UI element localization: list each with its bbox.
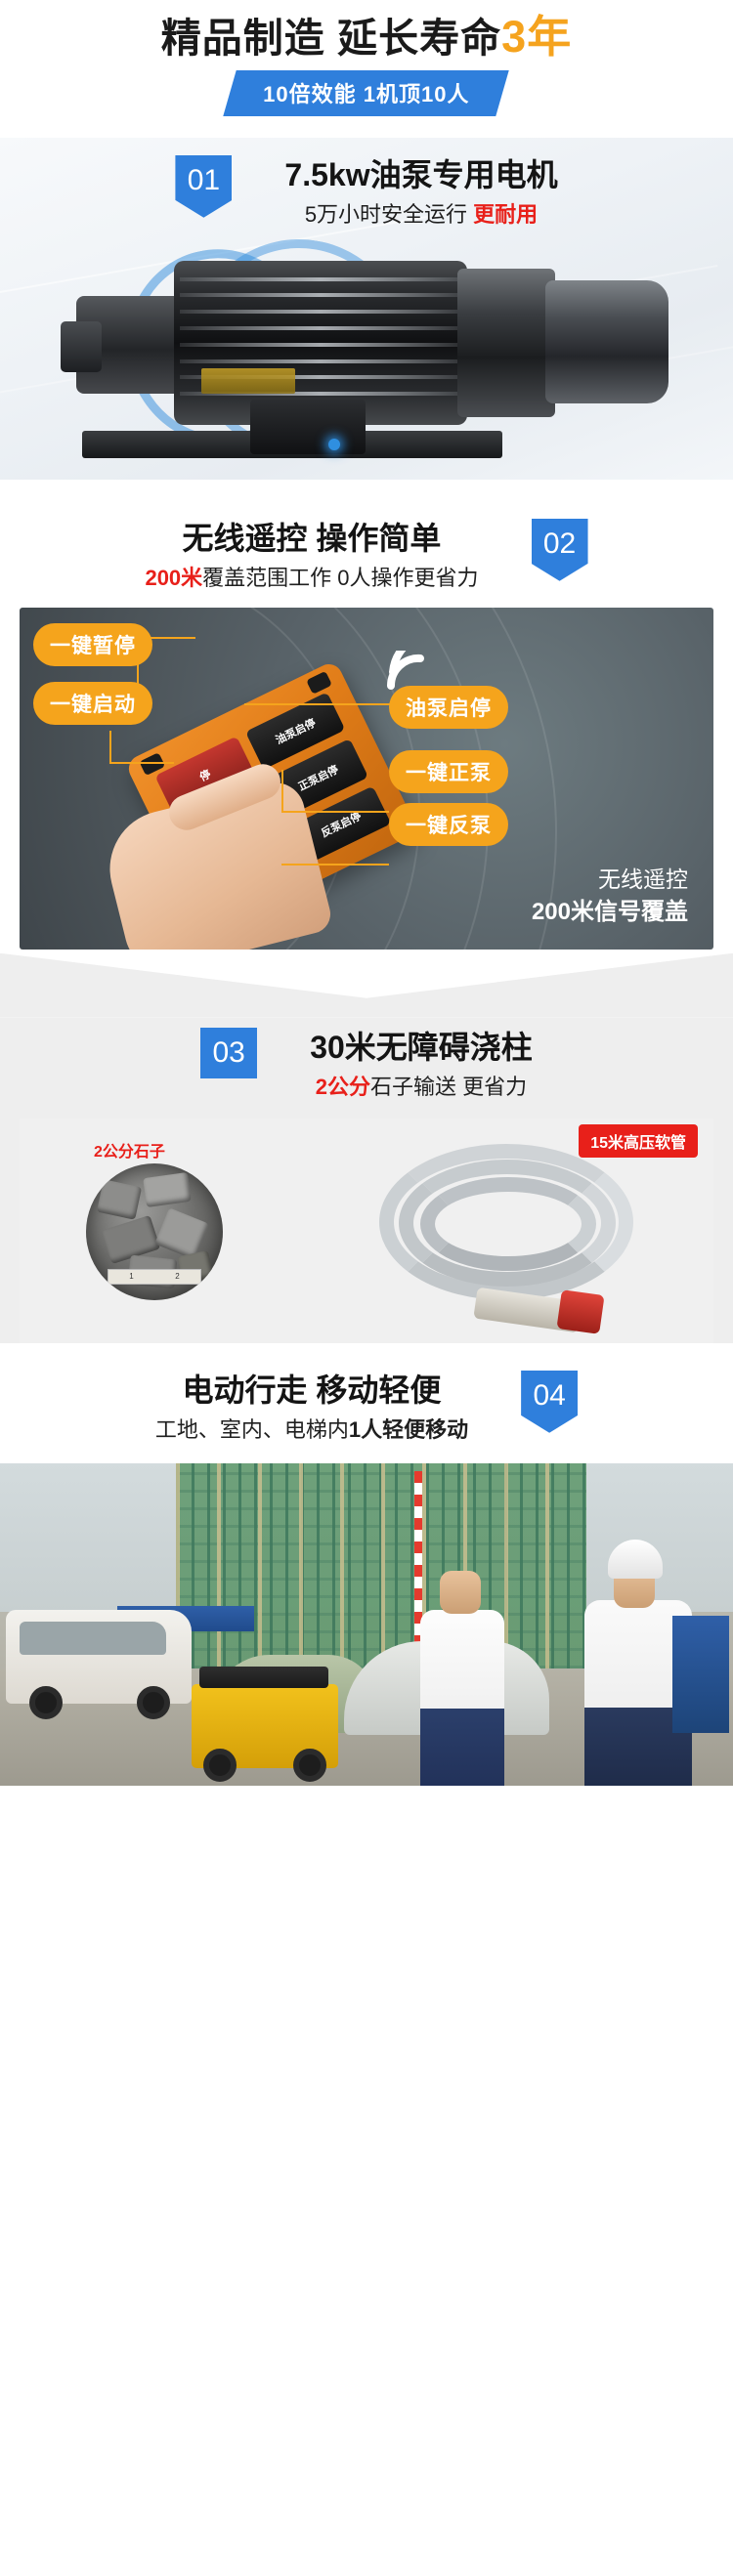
van-wheel bbox=[29, 1686, 63, 1719]
section-01-subtitle-highlight: 更耐用 bbox=[473, 202, 538, 227]
section-03-subtitle-highlight: 2公分 bbox=[316, 1075, 370, 1099]
callout-pump-reverse: 一键反泵 bbox=[389, 803, 508, 846]
headline-ribbon-label: 10倍效能 1机顶10人 bbox=[263, 77, 469, 108]
machine-hopper bbox=[199, 1667, 328, 1688]
motor-shaft-housing bbox=[457, 269, 555, 417]
section-04-badge: 04 bbox=[521, 1371, 578, 1433]
section-02-remote: 无线遥控 操作简单 200米覆盖范围工作 0人操作更省力 02 停 油泵启停 动… bbox=[0, 519, 733, 950]
callout-start: 一键启动 bbox=[33, 682, 152, 725]
tag-hose-length: 15米高压软管 bbox=[579, 1124, 698, 1158]
concrete-pump-machine bbox=[192, 1684, 338, 1768]
section-04-titles: 电动行走 移动轻便 工地、室内、电梯内1人轻便移动 bbox=[155, 1371, 468, 1446]
section-04-header: 电动行走 移动轻便 工地、室内、电梯内1人轻便移动 04 bbox=[0, 1345, 733, 1463]
ruler-mark: 2 bbox=[175, 1272, 179, 1281]
callout-leader-line bbox=[281, 770, 283, 813]
hose-end-cap bbox=[556, 1289, 604, 1334]
section-04-subtitle-normal: 工地、室内、电梯内 bbox=[155, 1417, 349, 1442]
ruler-mark: 1 bbox=[129, 1272, 133, 1281]
section-02-title: 无线遥控 操作简单 bbox=[145, 519, 478, 558]
scale-ruler: 1 2 bbox=[108, 1269, 201, 1285]
callout-pause: 一键暂停 bbox=[33, 623, 152, 666]
machine-wheel bbox=[293, 1749, 326, 1782]
callout-leader-line bbox=[281, 811, 389, 813]
page-title-accent: 3年 bbox=[501, 12, 572, 62]
callout-pump-forward: 一键正泵 bbox=[389, 750, 508, 793]
page-title-main: 精品制造 延长寿命 bbox=[161, 16, 501, 61]
motor-nameplate bbox=[201, 368, 295, 394]
section-03-hose: 03 30米无障碍浇柱 2公分石子输送 更省力 15米高压软管 2公分石子 1 … bbox=[0, 953, 733, 1343]
section-02-subtitle-highlight: 200米 bbox=[145, 566, 202, 590]
section-02-titles: 无线遥控 操作简单 200米覆盖范围工作 0人操作更省力 bbox=[145, 519, 478, 594]
section-03-subtitle-normal: 石子输送 更省力 bbox=[370, 1075, 527, 1099]
section-04-mobility: 电动行走 移动轻便 工地、室内、电梯内1人轻便移动 04 bbox=[0, 1345, 733, 1786]
section-03-badge: 03 bbox=[200, 1028, 257, 1078]
site-notice-board bbox=[672, 1616, 729, 1733]
van-window bbox=[20, 1622, 166, 1655]
motor-pump-port bbox=[61, 321, 102, 372]
page-header: 精品制造 延长寿命3年 10倍效能 1机顶10人 bbox=[0, 0, 733, 116]
callout-leader-line bbox=[281, 864, 389, 866]
section-01-subtitle: 5万小时安全运行 更耐用 bbox=[284, 198, 557, 231]
section-02-caption-line2: 200米信号覆盖 bbox=[532, 896, 688, 930]
callout-leader-line bbox=[109, 762, 174, 764]
section-02-header: 无线遥控 操作简单 200米覆盖范围工作 0人操作更省力 02 bbox=[0, 519, 733, 608]
motor-fan-cover bbox=[545, 280, 668, 403]
worker-figure bbox=[420, 1610, 504, 1786]
callout-pump-toggle: 油泵启停 bbox=[389, 686, 508, 729]
worker-head bbox=[440, 1571, 481, 1614]
section-04-subtitle: 工地、室内、电梯内1人轻便移动 bbox=[155, 1414, 468, 1446]
section-04-title: 电动行走 移动轻便 bbox=[155, 1371, 468, 1410]
section-01-subtitle-normal: 5万小时安全运行 bbox=[305, 202, 473, 227]
page-title: 精品制造 延长寿命3年 bbox=[0, 12, 733, 63]
section-02-subtitle-normal: 覆盖范围工作 0人操作更省力 bbox=[202, 566, 478, 590]
section-01-title: 7.5kw油泵专用电机 bbox=[284, 155, 557, 194]
tag-stone-size: 2公分石子 bbox=[94, 1138, 165, 1161]
motor-indicator-light bbox=[328, 439, 340, 450]
section-01-header: 01 7.5kw油泵专用电机 5万小时安全运行 更耐用 bbox=[0, 155, 733, 231]
parked-van bbox=[6, 1610, 192, 1704]
hose-coil-photo bbox=[366, 1134, 688, 1320]
callout-leader-line bbox=[109, 731, 111, 764]
motor-terminal-box bbox=[250, 400, 366, 454]
hose-loop bbox=[420, 1177, 596, 1271]
stone-sample-photo: 1 2 bbox=[86, 1163, 223, 1300]
section-01-badge: 01 bbox=[175, 155, 232, 218]
machine-wheel bbox=[203, 1749, 237, 1782]
callout-leader-line bbox=[244, 703, 391, 705]
section-01-titles: 7.5kw油泵专用电机 5万小时安全运行 更耐用 bbox=[284, 155, 557, 231]
section-03-fold-divider bbox=[0, 953, 733, 1018]
van-wheel bbox=[137, 1686, 170, 1719]
section-03-image: 15米高压软管 2公分石子 1 2 bbox=[20, 1119, 713, 1343]
scaffolding-structure bbox=[176, 1463, 586, 1668]
section-02-image: 停 油泵启停 动 正泵启停 备用 反泵启停 一键暂 bbox=[20, 608, 713, 950]
section-03-subtitle: 2公分石子输送 更省力 bbox=[310, 1071, 533, 1103]
section-03-header: 03 30米无障碍浇柱 2公分石子输送 更省力 bbox=[0, 1028, 733, 1119]
section-01-motor: 01 7.5kw油泵专用电机 5万小时安全运行 更耐用 bbox=[0, 138, 733, 480]
headline-ribbon-row: 10倍效能 1机顶10人 bbox=[0, 70, 733, 116]
scaffold-poles bbox=[176, 1463, 586, 1668]
section-02-caption-line1: 无线遥控 bbox=[532, 864, 688, 896]
section-03-body: 03 30米无障碍浇柱 2公分石子输送 更省力 15米高压软管 2公分石子 1 … bbox=[0, 1018, 733, 1343]
section-01-image bbox=[0, 232, 733, 476]
section-03-titles: 30米无障碍浇柱 2公分石子输送 更省力 bbox=[310, 1028, 533, 1103]
section-02-badge: 02 bbox=[532, 519, 588, 581]
section-04-image bbox=[0, 1463, 733, 1786]
section-03-title: 30米无障碍浇柱 bbox=[310, 1028, 533, 1067]
screw-icon bbox=[306, 671, 332, 695]
section-02-caption: 无线遥控 200米信号覆盖 bbox=[532, 864, 688, 930]
section-04-subtitle-highlight: 1人轻便移动 bbox=[349, 1417, 468, 1442]
section-02-subtitle: 200米覆盖范围工作 0人操作更省力 bbox=[145, 562, 478, 594]
headline-ribbon: 10倍效能 1机顶10人 bbox=[224, 70, 510, 116]
motor-illustration bbox=[59, 253, 674, 458]
